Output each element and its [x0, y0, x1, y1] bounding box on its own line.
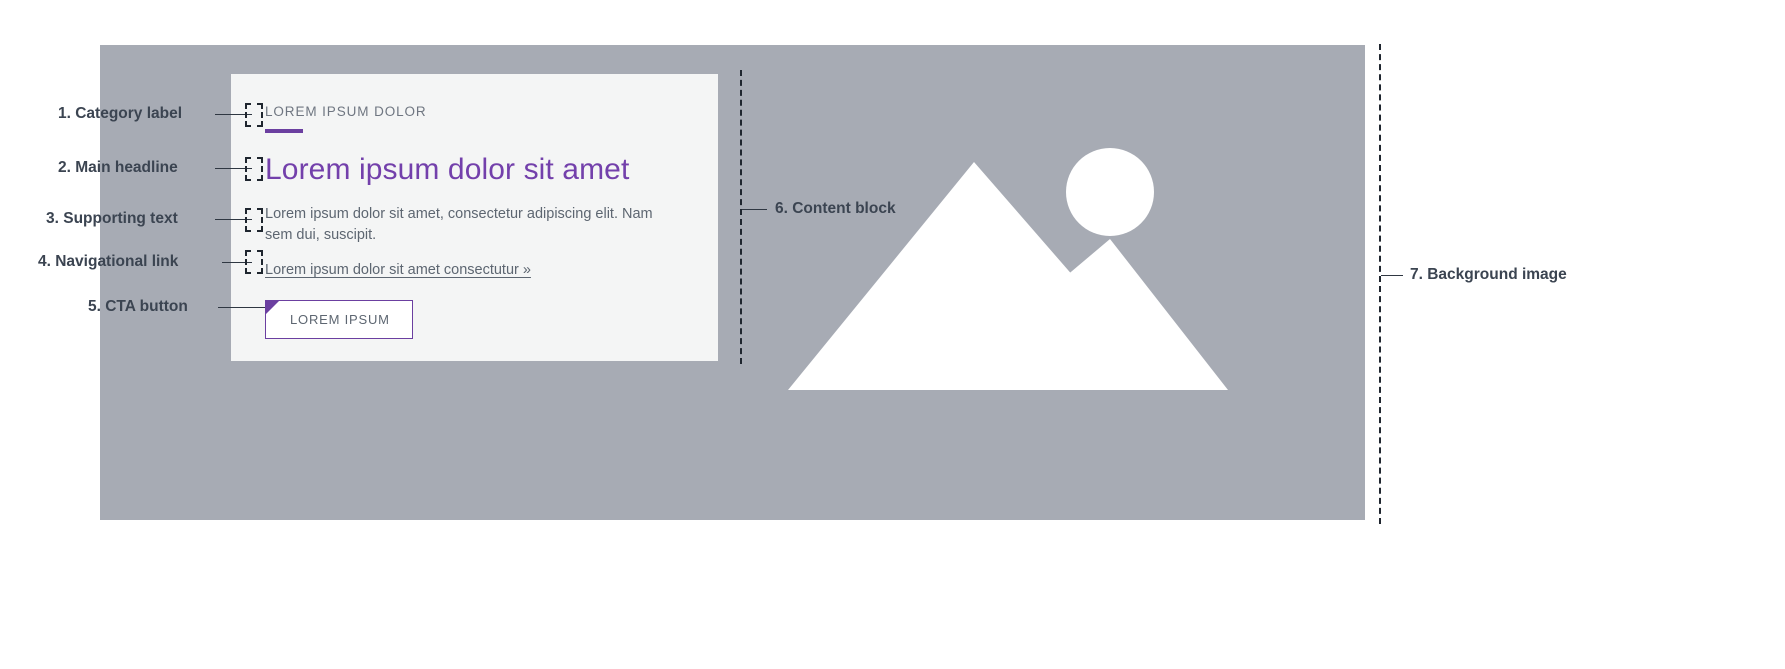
content-block-card: LOREM IPSUM DOLOR Lorem ipsum dolor sit …	[231, 74, 718, 361]
marker-4-navigational-link	[245, 250, 263, 274]
marker-3-supporting-text	[245, 208, 263, 232]
annotation-label-1-category-label: 1. Category label	[58, 104, 182, 124]
annotated-hero-diagram: LOREM IPSUM DOLOR Lorem ipsum dolor sit …	[0, 0, 1785, 669]
marker-1-category-label	[245, 103, 263, 127]
category-label: LOREM IPSUM DOLOR	[265, 104, 684, 120]
cta-button[interactable]: LOREM IPSUM	[265, 300, 413, 339]
annotation-label-2-main-headline: 2. Main headline	[58, 158, 178, 178]
leader-line-5	[218, 307, 265, 308]
annotation-label-6-content-block: 6. Content block	[775, 199, 896, 219]
main-headline: Lorem ipsum dolor sit amet	[265, 153, 684, 188]
annotation-label-4-navigational-link: 4. Navigational link	[38, 252, 178, 272]
bracket-6-content-block	[740, 70, 742, 364]
mountain-sun-icon	[788, 145, 1228, 390]
bracket-7-background-image	[1379, 44, 1381, 524]
supporting-text: Lorem ipsum dolor sit amet, consectetur …	[265, 204, 675, 246]
navigational-link[interactable]: Lorem ipsum dolor sit amet consectutur »	[265, 262, 531, 278]
leader-line-6	[742, 209, 767, 210]
annotation-label-3-supporting-text: 3. Supporting text	[46, 209, 178, 229]
category-underline-rule	[265, 129, 303, 133]
annotation-label-5-cta-button: 5. CTA button	[88, 297, 188, 317]
leader-line-7	[1381, 275, 1403, 276]
annotation-label-7-background-image: 7. Background image	[1410, 265, 1570, 285]
marker-2-main-headline	[245, 157, 263, 181]
